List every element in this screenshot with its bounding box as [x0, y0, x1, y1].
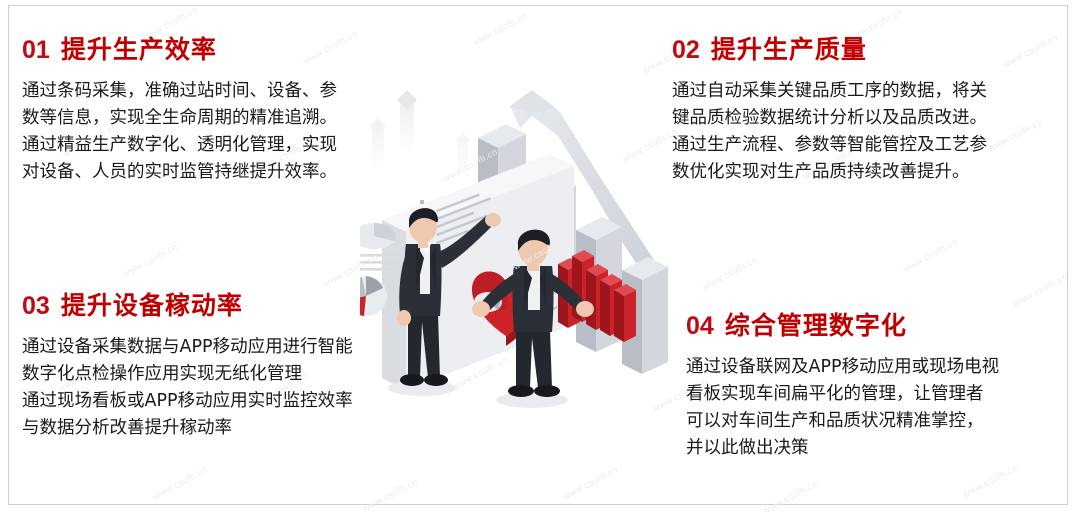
watermark-text: www.csofli.cn	[761, 478, 819, 512]
feature-heading-03: 提升设备稼动率	[61, 286, 243, 322]
feature-number-03: 03	[22, 292, 50, 321]
feature-number-04: 04	[686, 312, 714, 341]
feature-block-03: 03 提升设备稼动率 通过设备采集数据与APP移动应用进行智能 数字化点检操作应…	[22, 286, 452, 442]
feature-heading-01: 提升生产效率	[61, 30, 217, 66]
feature-block-04: 04 综合管理数字化 通过设备联网及APP移动应用或现场电视 看板实现车间扁平化…	[686, 306, 1078, 462]
watermark-text: www.csofli.cn	[471, 10, 529, 47]
feature-body-03: 通过设备采集数据与APP移动应用进行智能 数字化点检操作应用实现无纸化管理 通过…	[22, 334, 452, 442]
feature-body-02: 通过自动采集关键品质工序的数据，将关 键品质检验数据统计分析以及品质改进。 通过…	[672, 78, 1072, 186]
floating-pin-marker	[456, 133, 470, 178]
slide-root: www.csofli.cn www.csofli.cn www.csofli.c…	[0, 0, 1078, 512]
feature-title-04: 04 综合管理数字化	[686, 306, 1078, 342]
feature-title-03: 03 提升设备稼动率	[22, 286, 452, 322]
watermark-text: www.csofli.cn	[561, 464, 619, 501]
feature-body-01: 通过条码采集，准确过站时间、设备、参 数等信息，实现全生命周期的精准追溯。 通过…	[22, 78, 442, 186]
watermark-text: www.csofli.cn	[1011, 271, 1069, 308]
feature-block-01: 01 提升生产效率 通过条码采集，准确过站时间、设备、参 数等信息，实现全生命周…	[22, 30, 442, 186]
watermark-text: www.csofli.cn	[901, 236, 959, 273]
feature-title-01: 01 提升生产效率	[22, 30, 442, 66]
feature-heading-02: 提升生产质量	[711, 30, 867, 66]
feature-body-04: 通过设备联网及APP移动应用或现场电视 看板实现车间扁平化的管理，让管理者 可以…	[686, 354, 1078, 462]
watermark-text: www.csofli.cn	[361, 476, 419, 512]
feature-number-02: 02	[672, 36, 700, 65]
watermark-text: www.csofli.cn	[961, 462, 1019, 499]
feature-heading-04: 综合管理数字化	[725, 306, 907, 342]
feature-number-01: 01	[22, 36, 50, 65]
feature-block-02: 02 提升生产质量 通过自动采集关键品质工序的数据，将关 键品质检验数据统计分析…	[672, 30, 1072, 186]
feature-title-02: 02 提升生产质量	[672, 30, 1072, 66]
watermark-text: www.csofli.cn	[121, 241, 179, 278]
watermark-text: www.csofli.cn	[151, 464, 209, 501]
